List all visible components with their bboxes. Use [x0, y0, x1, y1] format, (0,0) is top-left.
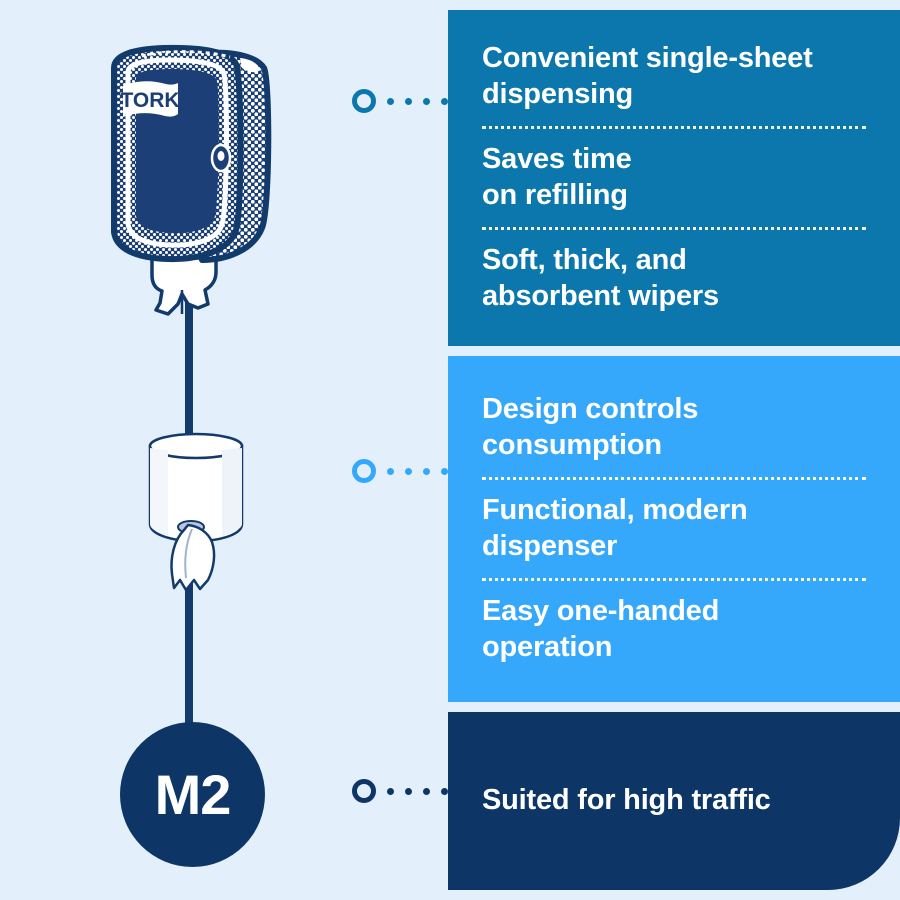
feature-line: Soft, thick, and — [482, 243, 868, 279]
ring-icon — [352, 89, 376, 113]
feature-line: Design controls — [482, 392, 868, 428]
feature-line: on refilling — [482, 178, 868, 214]
connector-dots-panel-1 — [352, 88, 459, 114]
dispensed-sheet-shape — [152, 258, 216, 314]
illustration-column: TORK M2 — [0, 0, 440, 900]
feature-item: Suited for high traffic — [482, 783, 868, 819]
tork-wall-dispenser-icon: TORK — [90, 32, 290, 317]
feature-line: Saves time — [482, 142, 868, 178]
product-system-badge: M2 — [120, 722, 265, 867]
feature-item: Soft, thick, and absorbent wipers — [482, 232, 868, 326]
feature-line: consumption — [482, 428, 868, 464]
connector-dots-panel-3 — [352, 778, 459, 804]
badge-label: M2 — [155, 767, 231, 823]
panel-design-benefits: Design controls consumption Functional, … — [448, 356, 900, 702]
feature-line: operation — [482, 630, 868, 666]
panel-traffic: Suited for high traffic — [448, 712, 900, 890]
ring-icon — [352, 779, 376, 803]
feature-item: Easy one-handed operation — [482, 583, 868, 677]
panel-dispenser-benefits: Convenient single-sheet dispensing Saves… — [448, 10, 900, 346]
feature-line: dispenser — [482, 529, 868, 565]
feature-line: Functional, modern — [482, 493, 868, 529]
feature-line: dispensing — [482, 77, 868, 113]
product-features-infographic: TORK M2 — [0, 0, 900, 900]
ring-icon — [352, 459, 376, 483]
feature-line: Easy one-handed — [482, 594, 868, 630]
feature-line: absorbent wipers — [482, 279, 868, 315]
feature-divider — [482, 578, 866, 581]
feature-item: Functional, modern dispenser — [482, 482, 868, 576]
feature-line: Suited for high traffic — [482, 783, 868, 819]
feature-item: Design controls consumption — [482, 381, 868, 475]
tork-logo: TORK — [120, 81, 179, 117]
svg-text:TORK: TORK — [120, 89, 179, 112]
feature-item: Saves time on refilling — [482, 131, 868, 225]
dispenser-lock-icon — [212, 145, 230, 171]
feature-line: Convenient single-sheet — [482, 41, 868, 77]
feature-divider — [482, 227, 866, 230]
connector-dots-panel-2 — [352, 458, 459, 484]
feature-divider — [482, 477, 866, 480]
feature-divider — [482, 126, 866, 129]
centerfeed-paper-roll-icon — [136, 428, 256, 603]
feature-item: Convenient single-sheet dispensing — [482, 30, 868, 124]
